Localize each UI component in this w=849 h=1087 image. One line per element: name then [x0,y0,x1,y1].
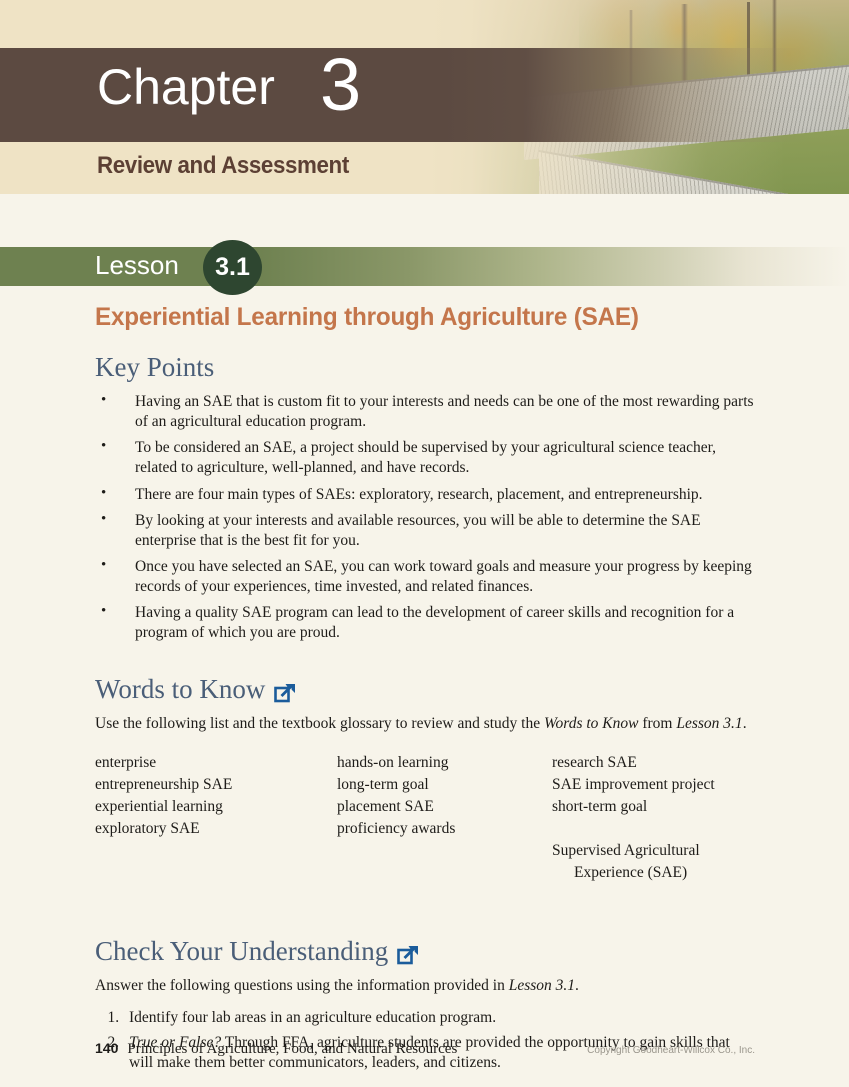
external-link-icon[interactable] [274,679,296,699]
word-term: placement SAE [337,796,552,818]
cyu-intro-before: Answer the following questions using the… [95,977,509,994]
intro-text-middle: from [638,715,676,732]
page-header: Chapter 3 Review and Assessment [0,0,849,194]
intro-text-italic-2: Lesson 3.1 [676,715,742,732]
word-term: Supervised Agricultural Experience (SAE) [552,818,755,906]
words-to-know-intro: Use the following list and the textbook … [95,714,755,734]
lesson-number: 3.1 [215,255,250,280]
page-number: 140 [95,1040,118,1056]
cyu-intro-italic: Lesson 3.1 [509,977,575,994]
word-term: enterprise [95,752,337,774]
word-term: short-term goal [552,796,755,818]
page-footer: 140 Principles of Agriculture, Food, and… [95,1040,755,1058]
chapter-number: 3 [320,48,361,122]
copyright-notice: Copyright Goodheart-Willcox Co., Inc. [587,1045,755,1056]
chapter-word: Chapter [97,62,275,112]
words-to-know-grid: enterprise entrepreneurship SAE experien… [95,752,755,906]
chapter-subtitle: Review and Assessment [97,152,349,180]
list-item: Having a quality SAE program can lead to… [95,603,755,643]
word-term: proficiency awards [337,818,552,840]
list-item: Having an SAE that is custom fit to your… [95,392,755,432]
question-text: Identify four lab areas in an agricultur… [129,1009,496,1026]
lesson-label: Lesson [95,252,179,278]
word-term: long-term goal [337,774,552,796]
words-to-know-heading-label: Words to Know [95,674,265,705]
key-points-list: Having an SAE that is custom fit to your… [95,392,755,644]
list-item: By looking at your interests and availab… [95,511,755,551]
external-link-icon[interactable] [397,941,419,961]
lesson-number-badge: 3.1 [203,240,262,295]
words-column-2: hands-on learning long-term goal placeme… [337,752,552,906]
intro-text-before: Use the following list and the textbook … [95,715,544,732]
question-item: Identify four lab areas in an agricultur… [123,1008,755,1028]
list-item: To be considered an SAE, a project shoul… [95,438,755,478]
word-term: experiential learning [95,796,337,818]
cyu-intro-after: . [575,977,579,994]
words-to-know-heading: Words to Know [95,674,755,705]
word-term: SAE improvement project [552,774,755,796]
intro-text-after: . [743,715,747,732]
list-item: There are four main types of SAEs: explo… [95,485,755,505]
word-term: hands-on learning [337,752,552,774]
key-points-heading-label: Key Points [95,352,214,383]
page-content: Key Points Having an SAE that is custom … [95,352,755,1078]
check-your-understanding-heading-label: Check Your Understanding [95,936,388,967]
word-term: entrepreneurship SAE [95,774,337,796]
key-points-heading: Key Points [95,352,755,383]
word-term: research SAE [552,752,755,774]
intro-text-italic: Words to Know [544,715,638,732]
book-title: Principles of Agriculture, Food, and Nat… [127,1041,457,1058]
list-item: Once you have selected an SAE, you can w… [95,557,755,597]
word-term-line-2: Experience (SAE) [552,862,755,884]
check-your-understanding-heading: Check Your Understanding [95,936,755,967]
words-column-3: research SAE SAE improvement project sho… [552,752,755,906]
check-your-understanding-intro: Answer the following questions using the… [95,976,755,996]
lesson-title: Experiential Learning through Agricultur… [95,303,639,332]
word-term-line-1: Supervised Agricultural [552,842,700,859]
words-column-1: enterprise entrepreneurship SAE experien… [95,752,337,906]
word-term: exploratory SAE [95,818,337,840]
